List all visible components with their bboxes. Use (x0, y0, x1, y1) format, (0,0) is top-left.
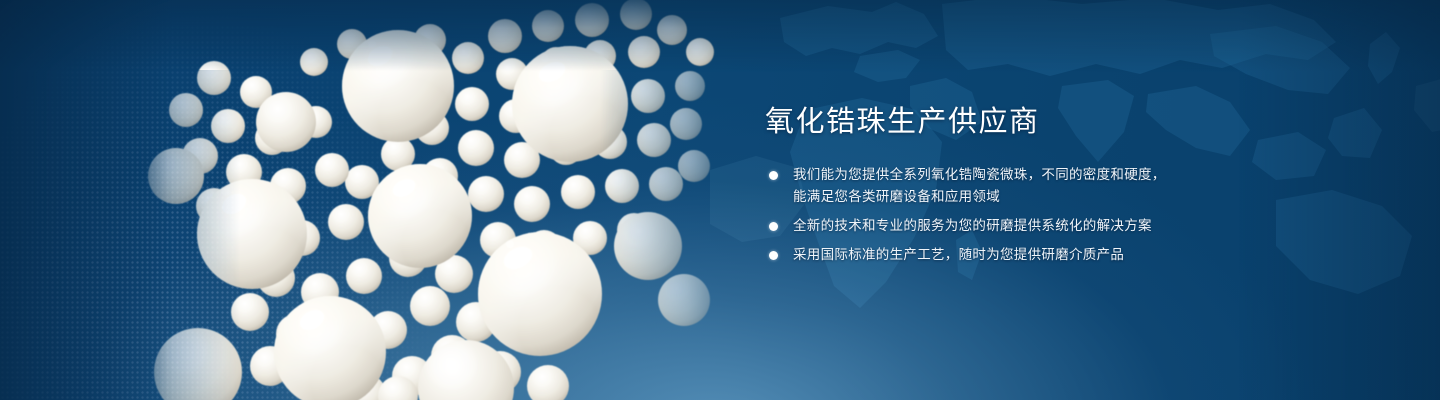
bullet-dot-icon (769, 171, 778, 180)
bullet-dot-icon (769, 222, 778, 231)
promo-banner: 氧化锆珠生产供应商 我们能为您提供全系列氧化锆陶瓷微珠，不同的密度和硬度， 能满… (0, 0, 1440, 400)
bullet-line-1: 采用国际标准的生产工艺，随时为您提供研磨介质产品 (793, 244, 1235, 266)
bullet-dot-icon (769, 251, 778, 260)
bullet-line-1: 全新的技术和专业的服务为您的研磨提供系统化的解决方案 (793, 215, 1235, 237)
bullet-line-2: 能满足您各类研磨设备和应用领域 (793, 186, 1235, 208)
list-item: 采用国际标准的生产工艺，随时为您提供研磨介质产品 (765, 244, 1235, 266)
list-item: 全新的技术和专业的服务为您的研磨提供系统化的解决方案 (765, 215, 1235, 237)
feature-list: 我们能为您提供全系列氧化锆陶瓷微珠，不同的密度和硬度， 能满足您各类研磨设备和应… (765, 164, 1235, 266)
banner-copy: 氧化锆珠生产供应商 我们能为您提供全系列氧化锆陶瓷微珠，不同的密度和硬度， 能满… (765, 104, 1235, 266)
bullet-line-1: 我们能为您提供全系列氧化锆陶瓷微珠，不同的密度和硬度， (793, 164, 1235, 186)
banner-headline: 氧化锆珠生产供应商 (765, 104, 1235, 140)
list-item: 我们能为您提供全系列氧化锆陶瓷微珠，不同的密度和硬度， 能满足您各类研磨设备和应… (765, 164, 1235, 208)
